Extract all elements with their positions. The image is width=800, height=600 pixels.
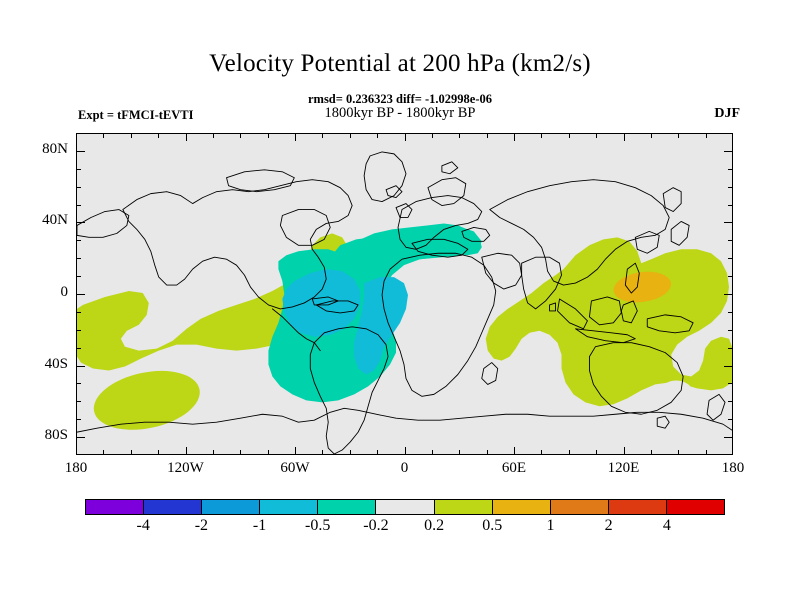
x-axis-label: 0	[370, 460, 440, 477]
y-minor-tick-right	[728, 330, 733, 331]
x-minor-tick	[651, 450, 652, 455]
y-minor-tick-right	[728, 240, 733, 241]
colorbar-segment-9	[609, 500, 667, 514]
x-minor-tick-top	[706, 133, 707, 138]
x-minor-tick-top	[350, 133, 351, 138]
y-minor-tick-right	[728, 383, 733, 384]
y-major-tick-right	[724, 437, 733, 438]
x-minor-tick-top	[459, 133, 460, 138]
y-minor-tick	[76, 240, 81, 241]
y-axis-label: 80N	[22, 141, 68, 158]
colorbar-segment-6	[435, 500, 493, 514]
x-minor-tick-top	[131, 133, 132, 138]
x-minor-tick	[706, 450, 707, 455]
y-minor-tick-right	[728, 205, 733, 206]
coastline-tasmania	[657, 416, 669, 428]
y-major-tick-right	[724, 151, 733, 152]
colorbar-tick-1: 1	[520, 517, 580, 535]
colorbar-tick--4: -4	[113, 517, 173, 535]
colorbar-tick--1: -1	[230, 517, 290, 535]
x-minor-tick	[678, 450, 679, 455]
world-map-svg	[77, 134, 732, 454]
y-major-tick	[76, 437, 85, 438]
y-minor-tick	[76, 258, 81, 259]
y-major-tick	[76, 366, 85, 367]
y-minor-tick-right	[728, 169, 733, 170]
y-minor-tick	[76, 348, 81, 349]
x-minor-tick	[158, 450, 159, 455]
y-major-tick	[76, 151, 85, 152]
x-minor-tick-top	[322, 133, 323, 138]
y-major-tick	[76, 294, 85, 295]
coastline-new-zealand	[707, 394, 725, 420]
x-minor-tick-top	[103, 133, 104, 138]
x-minor-tick-top	[596, 133, 597, 138]
x-minor-tick	[240, 450, 241, 455]
x-minor-tick	[541, 450, 542, 455]
y-axis-label: 0	[22, 284, 68, 301]
y-minor-tick	[76, 330, 81, 331]
y-minor-tick	[76, 383, 81, 384]
y-axis-label: 80S	[22, 427, 68, 444]
y-major-tick-right	[724, 366, 733, 367]
y-major-tick-right	[724, 294, 733, 295]
x-major-tick-top	[295, 133, 296, 141]
x-minor-tick	[432, 450, 433, 455]
x-major-tick-top	[514, 133, 515, 141]
colorbar-tick--0.2: -0.2	[346, 517, 406, 535]
y-minor-tick	[76, 187, 81, 188]
y-major-tick-right	[724, 222, 733, 223]
x-minor-tick	[459, 450, 460, 455]
region-tasman-neutral-hole	[659, 380, 693, 406]
x-minor-tick-top	[240, 133, 241, 138]
coastline-japan	[671, 221, 689, 245]
colorbar-segment-0	[86, 500, 144, 514]
x-minor-tick-top	[651, 133, 652, 138]
colorbar-tick-0.2: 0.2	[404, 517, 464, 535]
y-minor-tick	[76, 419, 81, 420]
colorbar-segment-4	[318, 500, 376, 514]
y-axis-label: 40N	[22, 212, 68, 229]
x-axis-label: 180	[41, 460, 111, 477]
y-minor-tick	[76, 276, 81, 277]
y-minor-tick	[76, 205, 81, 206]
y-minor-tick-right	[728, 401, 733, 402]
colorbar[interactable]	[85, 499, 725, 515]
x-axis-label: 120E	[589, 460, 659, 477]
x-minor-tick	[569, 450, 570, 455]
y-minor-tick	[76, 169, 81, 170]
coastline-hudson-bay	[280, 210, 330, 246]
y-minor-tick-right	[728, 312, 733, 313]
colorbar-tick--0.5: -0.5	[288, 517, 348, 535]
y-minor-tick-right	[728, 187, 733, 188]
coastline-alaska	[77, 210, 129, 238]
y-minor-tick	[76, 312, 81, 313]
x-major-tick-top	[405, 133, 406, 141]
colorbar-segment-1	[144, 500, 202, 514]
coastline-scandinavia	[428, 178, 466, 206]
x-major-tick	[624, 447, 625, 455]
coastline-kamchatka	[663, 188, 681, 212]
x-axis-label: 120W	[151, 460, 221, 477]
x-minor-tick-top	[678, 133, 679, 138]
y-minor-tick-right	[728, 348, 733, 349]
x-minor-tick-top	[377, 133, 378, 138]
figure-canvas: Velocity Potential at 200 hPa (km2/s) rm…	[0, 0, 800, 600]
colorbar-tick-0.5: 0.5	[462, 517, 522, 535]
x-major-tick-top	[624, 133, 625, 141]
y-minor-tick-right	[728, 419, 733, 420]
x-major-tick-top	[186, 133, 187, 141]
x-minor-tick-top	[268, 133, 269, 138]
x-axis-label: 180	[698, 460, 768, 477]
x-minor-tick-top	[541, 133, 542, 138]
colorbar-segment-2	[202, 500, 260, 514]
colorbar-segment-8	[551, 500, 609, 514]
x-minor-tick	[596, 450, 597, 455]
colorbar-segment-7	[493, 500, 551, 514]
coastline-canadian-archipelago	[227, 170, 295, 192]
region-south-pacific-subtropical	[88, 362, 205, 439]
x-minor-tick	[377, 450, 378, 455]
map-plot-area	[76, 133, 733, 455]
coastline-africa	[382, 253, 496, 396]
x-minor-tick	[103, 450, 104, 455]
y-minor-tick-right	[728, 258, 733, 259]
y-axis-label: 40S	[22, 356, 68, 373]
x-minor-tick-top	[432, 133, 433, 138]
x-minor-tick-top	[158, 133, 159, 138]
x-minor-tick	[131, 450, 132, 455]
season-label: DJF	[714, 106, 740, 122]
x-major-tick	[186, 447, 187, 455]
y-minor-tick-right	[728, 276, 733, 277]
colorbar-segment-5	[376, 500, 434, 514]
y-minor-tick	[76, 401, 81, 402]
x-minor-tick-top	[487, 133, 488, 138]
x-major-tick	[514, 447, 515, 455]
x-minor-tick	[487, 450, 488, 455]
colorbar-tick--2: -2	[171, 517, 231, 535]
x-minor-tick	[322, 450, 323, 455]
coastline-madagascar	[482, 363, 498, 385]
experiment-label: Expt = tFMCI-tEVTI	[78, 108, 193, 123]
coastline-svalbard	[442, 162, 458, 174]
x-minor-tick	[213, 450, 214, 455]
colorbar-tick-4: 4	[637, 517, 697, 535]
x-minor-tick	[268, 450, 269, 455]
x-major-tick	[295, 447, 296, 455]
colorbar-segment-10	[667, 500, 724, 514]
y-major-tick	[76, 222, 85, 223]
page-title: Velocity Potential at 200 hPa (km2/s)	[0, 50, 800, 78]
x-minor-tick	[350, 450, 351, 455]
contour-fill-layer	[77, 223, 732, 438]
x-axis-label: 60W	[260, 460, 330, 477]
x-minor-tick-top	[213, 133, 214, 138]
colorbar-segment-3	[260, 500, 318, 514]
x-major-tick	[405, 447, 406, 455]
x-axis-label: 60E	[479, 460, 549, 477]
x-minor-tick-top	[569, 133, 570, 138]
colorbar-tick-2: 2	[579, 517, 639, 535]
